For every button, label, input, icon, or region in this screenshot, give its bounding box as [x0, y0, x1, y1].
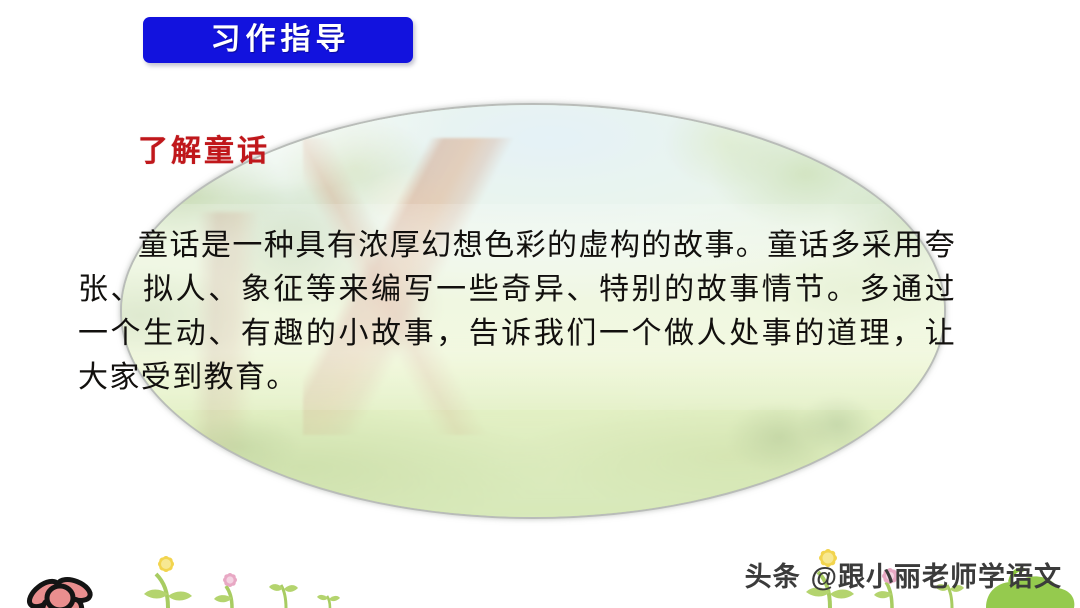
- sprout-icon-1: [269, 584, 298, 608]
- pink-daisy-icon: [214, 572, 238, 608]
- body-paragraph: 童话是一种具有浓厚幻想色彩的虚构的故事。童话多采用夸张、拟人、象征等来编写一些奇…: [78, 224, 956, 400]
- watermark-handle: @跟小丽老师学语文: [811, 555, 1062, 594]
- watermark: 头条 @跟小丽老师学语文: [745, 555, 1062, 594]
- big-pink-flower-icon: [25, 575, 93, 608]
- watermark-brand: 头条: [745, 555, 801, 594]
- yellow-daisy-icon: [144, 555, 192, 608]
- slide-canvas: 习作指导 了解童话 童话是一种具有浓厚幻想色彩的虚构的故事。童话多采用夸张、拟人…: [0, 0, 1080, 608]
- sprout-icon-2: [317, 595, 340, 608]
- title-banner: 习作指导: [143, 17, 413, 63]
- title-banner-label: 习作指导: [206, 25, 351, 55]
- section-heading: 了解童话: [138, 126, 270, 170]
